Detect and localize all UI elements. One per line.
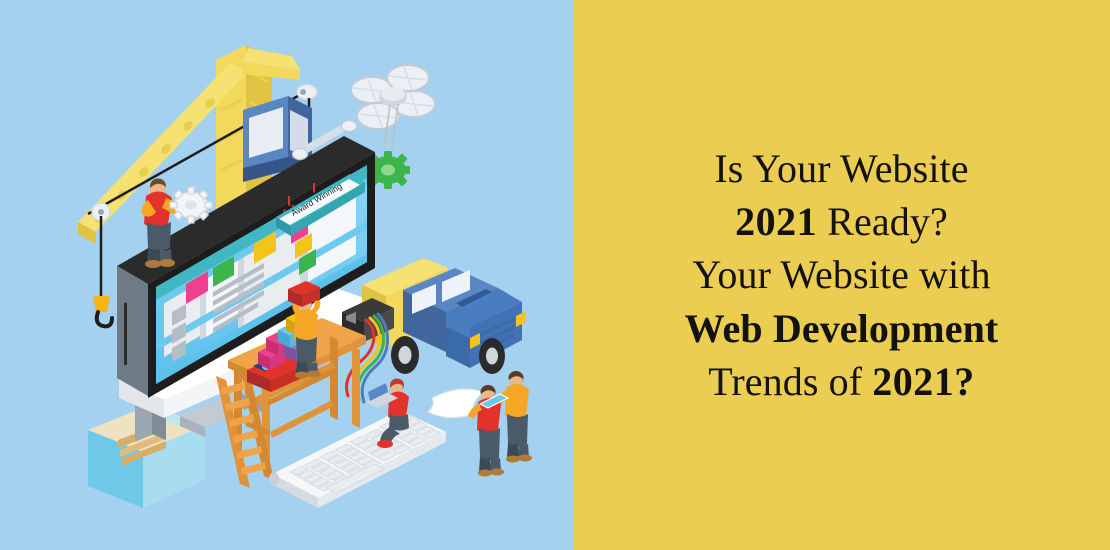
headline-line-5-rest: Trends of: [708, 359, 872, 404]
illustration-panel: Award Winning: [0, 0, 573, 550]
headline-line-4: Web Development: [591, 302, 1092, 355]
headline-panel: Is Your Website 2021 Ready? Your Website…: [573, 0, 1110, 550]
headline-year-2: 2021?: [872, 359, 975, 404]
headline-line-3: Your Website with: [591, 248, 1092, 301]
headline-line-2-rest: Ready?: [817, 199, 948, 244]
headline-line-2: 2021 Ready?: [591, 195, 1092, 248]
promo-banner: Award Winning: [0, 0, 1110, 550]
gear-white-icon: [170, 187, 212, 223]
headline-line-1: Is Your Website: [591, 142, 1092, 195]
headline-year-1: 2021: [735, 199, 817, 244]
headline-line-5: Trends of 2021?: [591, 355, 1092, 408]
headline-emphasis: Web Development: [685, 306, 999, 351]
page-title: Is Your Website 2021 Ready? Your Website…: [573, 142, 1110, 408]
isometric-scene: Award Winning: [0, 0, 573, 550]
